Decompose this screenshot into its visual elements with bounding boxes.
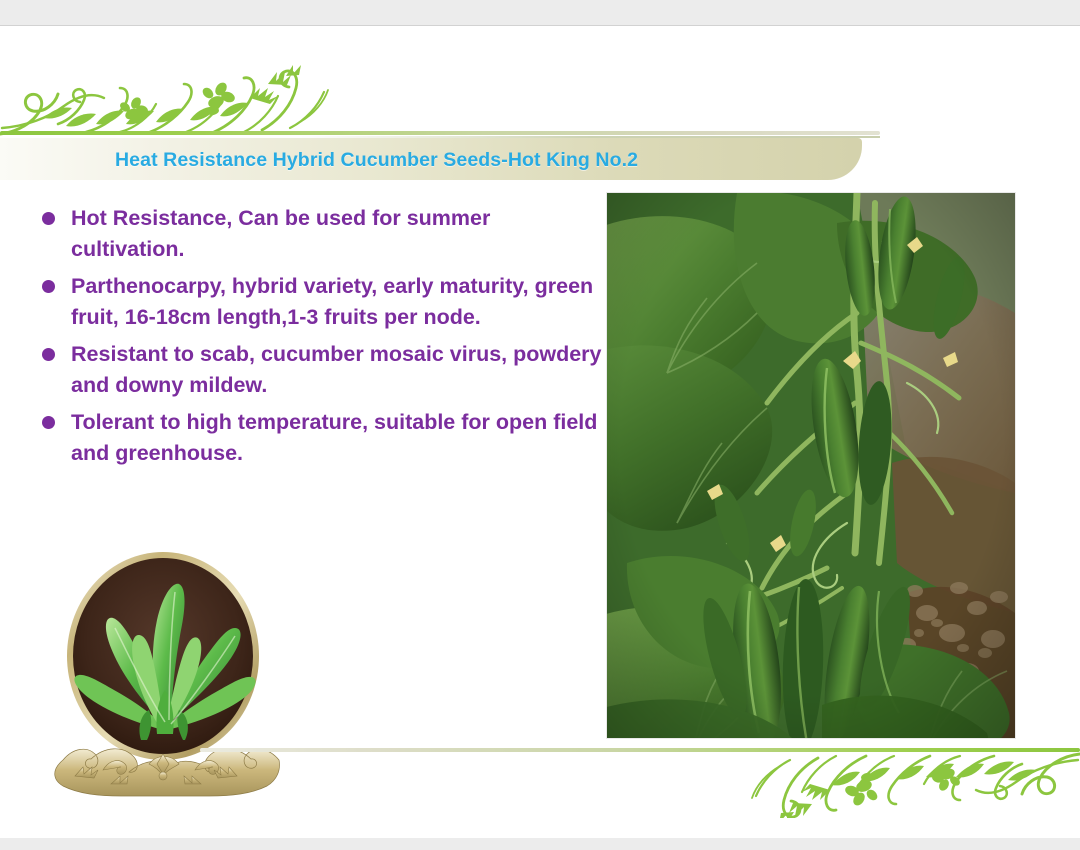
viewer-top-band <box>0 0 1080 25</box>
page-title: Heat Resistance Hybrid Cucumber Seeds-Ho… <box>115 149 835 172</box>
bullet-dot-icon <box>42 416 55 429</box>
feature-bullet-list: Hot Resistance, Can be used for summer c… <box>42 203 602 475</box>
top-rule-divider <box>0 131 880 135</box>
bullet-text: Hot Resistance, Can be used for summer c… <box>71 203 602 265</box>
bottom-vine-flourish-icon <box>748 742 1080 818</box>
top-vine-flourish-icon <box>0 62 330 140</box>
viewer-top-divider <box>0 25 1080 26</box>
bullet-dot-icon <box>42 348 55 361</box>
company-emblem-logo <box>45 548 285 806</box>
list-item: Hot Resistance, Can be used for summer c… <box>42 203 602 265</box>
bullet-dot-icon <box>42 280 55 293</box>
list-item: Tolerant to high temperature, suitable f… <box>42 407 602 469</box>
viewer-bottom-band <box>0 838 1080 850</box>
bullet-text: Tolerant to high temperature, suitable f… <box>71 407 602 469</box>
list-item: Resistant to scab, cucumber mosaic virus… <box>42 339 602 401</box>
slide-canvas: Heat Resistance Hybrid Cucumber Seeds-Ho… <box>0 0 1080 850</box>
bullet-dot-icon <box>42 212 55 225</box>
list-item: Parthenocarpy, hybrid variety, early mat… <box>42 271 602 333</box>
bullet-text: Resistant to scab, cucumber mosaic virus… <box>71 339 602 401</box>
cucumber-photo <box>607 193 1015 738</box>
bullet-text: Parthenocarpy, hybrid variety, early mat… <box>71 271 602 333</box>
